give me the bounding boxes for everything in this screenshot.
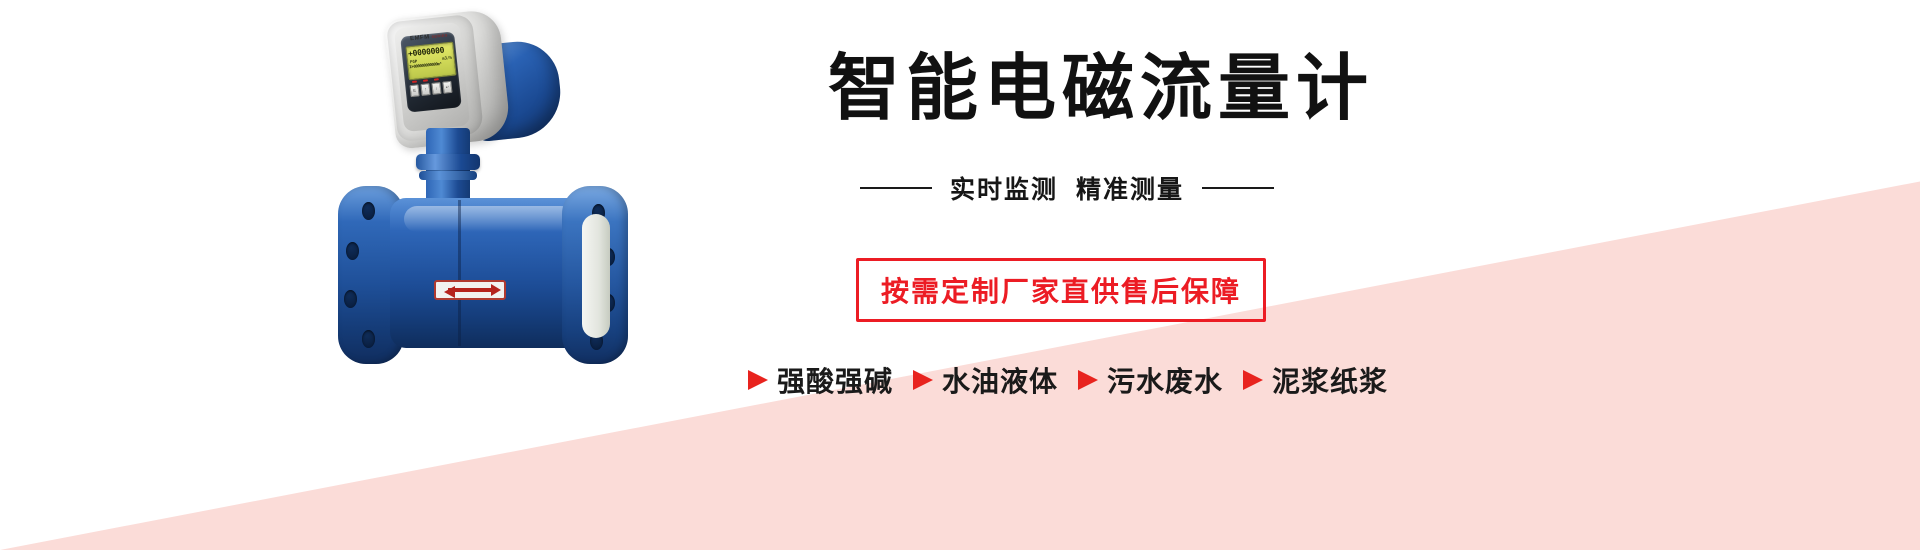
- promo-badge: 按需定制 厂家直供 售后保障: [856, 258, 1266, 322]
- feature-item-2: 水油液体: [913, 360, 1058, 400]
- feature-label: 污水废水: [1107, 360, 1223, 400]
- feature-label: 泥浆纸浆: [1272, 360, 1388, 400]
- feature-item-4: 泥浆纸浆: [1243, 360, 1388, 400]
- feature-item-3: 污水废水: [1078, 360, 1223, 400]
- feature-item-1: 强酸强碱: [748, 360, 893, 400]
- feature-label: 强酸强碱: [777, 360, 893, 400]
- promo-item-2: 厂家直供: [1001, 270, 1121, 310]
- rule-right: [1202, 187, 1274, 189]
- promo-item-1: 按需定制: [881, 270, 1001, 310]
- feature-label: 水油液体: [942, 360, 1058, 400]
- arrow-right-icon: [1078, 370, 1098, 390]
- subtitle-row: 实时监测 精准测量: [860, 170, 1274, 206]
- feature-list: 强酸强碱 水油液体 污水废水 泥浆纸浆: [748, 360, 1388, 400]
- subtitle-left: 实时监测: [950, 170, 1058, 206]
- banner-content: 智能电磁流量计 实时监测 精准测量 按需定制 厂家直供 售后保障 强酸强碱 水油…: [0, 0, 1920, 550]
- promo-item-3: 售后保障: [1121, 270, 1241, 310]
- arrow-right-icon: [913, 370, 933, 390]
- arrow-right-icon: [1243, 370, 1263, 390]
- arrow-right-icon: [748, 370, 768, 390]
- subtitle-right: 精准测量: [1076, 170, 1184, 206]
- rule-left: [860, 187, 932, 189]
- page-title: 智能电磁流量计: [828, 48, 1374, 128]
- product-banner: EMFMSERIES +0000000 FGP m3/h Σ+000000000…: [0, 0, 1920, 550]
